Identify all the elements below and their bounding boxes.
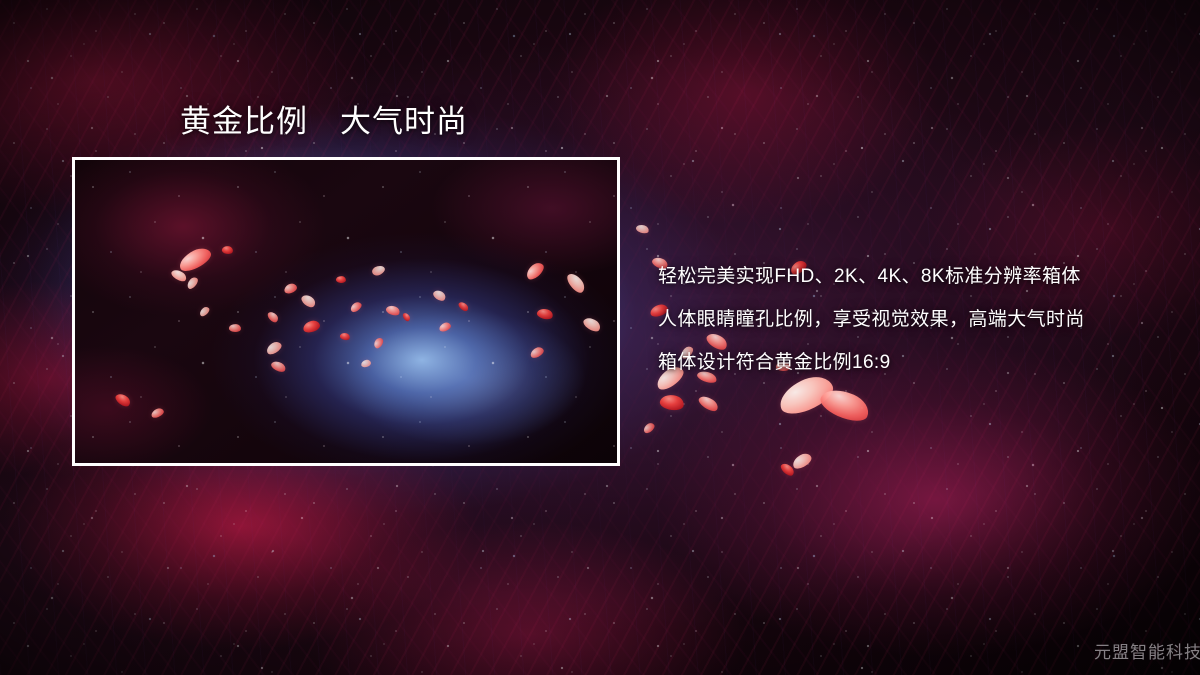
petal-right-small-a	[790, 451, 813, 471]
watermark: 元盟智能科技	[1094, 642, 1200, 664]
body-text-block: 轻松完美实现FHD、2K、4K、8K标准分辨率箱体 人体眼睛瞳孔比例，享受视觉效…	[658, 255, 1178, 384]
picture-inner	[75, 160, 617, 463]
petal-edge-a	[635, 223, 650, 235]
petal-edge-b	[642, 421, 656, 435]
petal-right-small-b	[779, 461, 796, 478]
presentation-slide: 黄金比例 大气时尚 轻松完美实现FHD、2K、4K、8K标准分辨率箱体 人体眼睛…	[0, 0, 1200, 675]
framed-picture	[72, 157, 620, 466]
body-line-3: 箱体设计符合黄金比例16:9	[658, 341, 1178, 384]
petal-right-mid-b	[659, 393, 686, 413]
slide-title: 黄金比例 大气时尚	[180, 102, 468, 142]
body-line-2: 人体眼睛瞳孔比例，享受视觉效果，高端大气时尚	[658, 298, 1178, 341]
petal-right-large-b	[817, 383, 873, 427]
body-line-1: 轻松完美实现FHD、2K、4K、8K标准分辨率箱体	[658, 255, 1178, 298]
petal-right-mid-d	[697, 393, 721, 414]
picture-starfield	[75, 160, 617, 463]
